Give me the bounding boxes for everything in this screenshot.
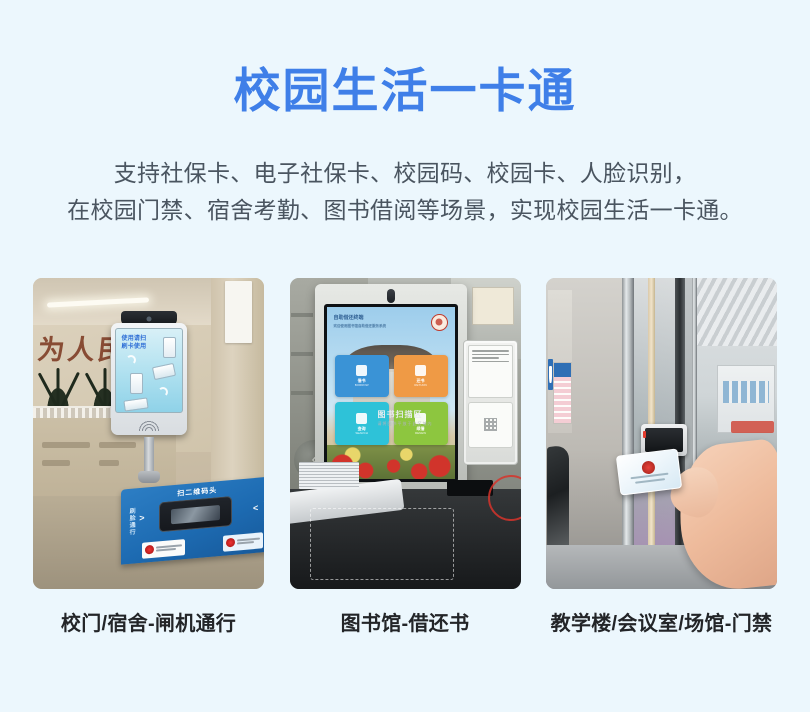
reader-sensor-area	[645, 428, 683, 452]
book-area-hint: 请将图书平放于此区域内	[378, 421, 433, 427]
wall-info-panel	[463, 340, 518, 464]
gate-sticker-label	[223, 532, 263, 552]
tile-sublabel: RENEW	[415, 431, 426, 435]
book-scan-area[interactable]	[310, 508, 453, 580]
card-caption: 校门/宿舍-闸机通行	[61, 607, 236, 636]
school-seal-icon	[431, 314, 448, 331]
kiosk-tile-return[interactable]: 还书 RETURN	[394, 355, 448, 397]
book-area-title: 图书扫描区	[378, 410, 423, 419]
social-security-card[interactable]	[615, 449, 681, 496]
kiosk-tile-borrow[interactable]: 借书 BORROW	[335, 355, 389, 397]
nfc-wave-icon	[126, 355, 136, 365]
gate-left-label: 刷脸通行	[127, 508, 136, 537]
photo-library-kiosk: ‹ 自助借还终端 欢迎使用图书馆自助借还服务系统	[290, 278, 521, 589]
search-icon	[356, 413, 367, 424]
kiosk-screen-header: 自助借还终端 欢迎使用图书馆自助借还服务系统	[333, 315, 386, 330]
phone-illustration	[130, 373, 143, 394]
photo-gate-turnstile: 为人民服务 使用请扫刷卡使用	[33, 278, 264, 589]
book-icon	[356, 365, 367, 376]
scenario-card-gate-turnstile[interactable]: 为人民服务 使用请扫刷卡使用	[33, 278, 264, 648]
qr-scanner-window[interactable]	[159, 497, 232, 533]
gate-right-label: 刷卡通行	[261, 496, 264, 525]
national-emblem-icon	[145, 545, 154, 555]
terminal-pole-base	[138, 471, 160, 483]
scenario-card-list: 为人民服务 使用请扫刷卡使用	[33, 278, 777, 648]
tile-sublabel: SEARCH	[355, 431, 368, 435]
tile-sublabel: BORROW	[355, 383, 369, 387]
receipt-slot	[447, 480, 493, 496]
qr-code-icon	[484, 418, 497, 431]
door-frame	[622, 278, 634, 589]
gate-sticker-label	[142, 539, 185, 559]
wall-notice	[472, 287, 514, 324]
building-interior	[546, 278, 629, 589]
terminal-screen: 使用请扫刷卡使用	[115, 328, 183, 413]
arrow-right-icon: >	[139, 513, 144, 523]
phone-illustration	[163, 337, 176, 358]
kiosk-header-text: 自助借还终端	[333, 315, 363, 321]
terminal-screen-title: 使用请扫刷卡使用	[122, 335, 147, 351]
tile-sublabel: RETURN	[414, 383, 427, 387]
scenario-card-library-kiosk[interactable]: ‹ 自助借还终端 欢迎使用图书馆自助借还服务系统	[290, 278, 521, 648]
book-scan-area-label: 图书扫描区 请将图书平放于此区域内	[378, 409, 433, 427]
kiosk-subheader-text: 欢迎使用图书馆自助借还服务系统	[333, 323, 386, 330]
kiosk-screen[interactable]: 自助借还终端 欢迎使用图书馆自助借还服务系统 借书 BORROW	[324, 304, 458, 483]
wall-poster	[553, 362, 571, 424]
card-caption: 图书馆-借还书	[341, 607, 470, 636]
card-caption: 教学楼/会议室/场馆-门禁	[551, 607, 773, 636]
status-led-icon	[643, 431, 646, 438]
kiosk-function-tiles: 借书 BORROW 还书 RETURN 查询	[335, 355, 448, 445]
nfc-wave-icon	[158, 387, 168, 397]
face-recognition-terminal[interactable]: 使用请扫刷卡使用	[111, 323, 187, 435]
nfc-reader-icon	[138, 418, 160, 431]
turnstile-gate-panel[interactable]: 扫二维码头 刷脸通行 > < 刷卡通行	[121, 477, 264, 565]
card-illustration	[123, 397, 148, 411]
card-text-lines	[630, 470, 670, 488]
national-emblem-icon	[226, 538, 235, 548]
red-railing	[731, 421, 774, 433]
panel-qr-code	[468, 402, 513, 448]
card-illustration	[151, 363, 175, 380]
subtitle-line-1: 支持社保卡、电子社保卡、校园码、校园卡、人脸识别，	[0, 155, 810, 192]
arrow-left-icon: <	[253, 503, 258, 513]
photo-door-access	[546, 278, 777, 589]
page-subtitle: 支持社保卡、电子社保卡、校园码、校园卡、人脸识别， 在校园门禁、宿舍考勤、图书借…	[0, 155, 810, 229]
book-stack	[299, 462, 359, 490]
return-box-icon	[415, 365, 426, 376]
canopy-ceiling	[697, 278, 777, 346]
subtitle-line-2: 在校园门禁、宿舍考勤、图书借阅等场景，实现校园生活一卡通。	[0, 192, 810, 229]
page-title: 校园生活一卡通	[0, 62, 810, 120]
posted-notice	[225, 281, 253, 343]
panel-instructions	[468, 345, 513, 398]
kiosk-camera-icon	[387, 289, 395, 303]
promo-page: 校园生活一卡通 支持社保卡、电子社保卡、校园码、校园卡、人脸识别， 在校园门禁、…	[0, 0, 810, 712]
scenario-card-door-access[interactable]: 教学楼/会议室/场馆-门禁	[546, 278, 777, 648]
